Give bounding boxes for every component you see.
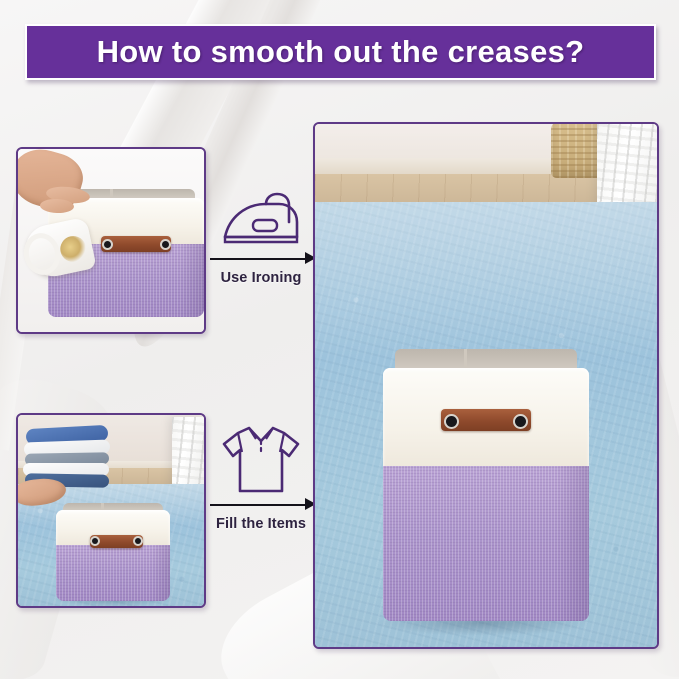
iron-floral-print <box>58 234 89 265</box>
infographic-canvas: How to smooth out the creases? <box>0 0 679 679</box>
filling-demo-photo <box>16 413 206 608</box>
ironing-scene <box>18 149 204 332</box>
step-label-fill-the-items: Fill the Items <box>206 516 316 532</box>
iron-icon <box>206 188 316 250</box>
arrow-right-icon <box>206 498 316 512</box>
product-hero-photo <box>313 122 659 649</box>
rug-highlight <box>315 202 657 359</box>
handle-grommet-left <box>104 241 111 248</box>
handle-grommet-right <box>515 416 526 427</box>
step-fill-the-items: Fill the Items <box>206 420 316 532</box>
page-title: How to smooth out the creases? <box>97 34 585 70</box>
handle-grommet-right <box>135 538 141 544</box>
basket-body-shading <box>556 466 589 621</box>
storage-basket <box>56 503 170 601</box>
filling-scene <box>18 415 204 606</box>
arrow-right-icon <box>206 252 316 266</box>
header-banner: How to smooth out the creases? <box>25 24 656 80</box>
step-label-use-ironing: Use Ironing <box>206 270 316 286</box>
ironing-demo-photo <box>16 147 206 334</box>
basket-body-shading <box>152 545 170 601</box>
handle-grommet-left <box>446 416 457 427</box>
storage-basket <box>383 349 589 621</box>
arrow-shaft <box>210 504 306 506</box>
hero-scene <box>315 124 657 647</box>
handle-grommet-right <box>162 241 169 248</box>
tshirt-icon <box>206 420 316 496</box>
step-use-ironing: Use Ironing <box>206 188 316 286</box>
arrow-shaft <box>210 258 306 260</box>
basket-body-shading <box>179 244 204 317</box>
leather-handle <box>101 236 171 251</box>
